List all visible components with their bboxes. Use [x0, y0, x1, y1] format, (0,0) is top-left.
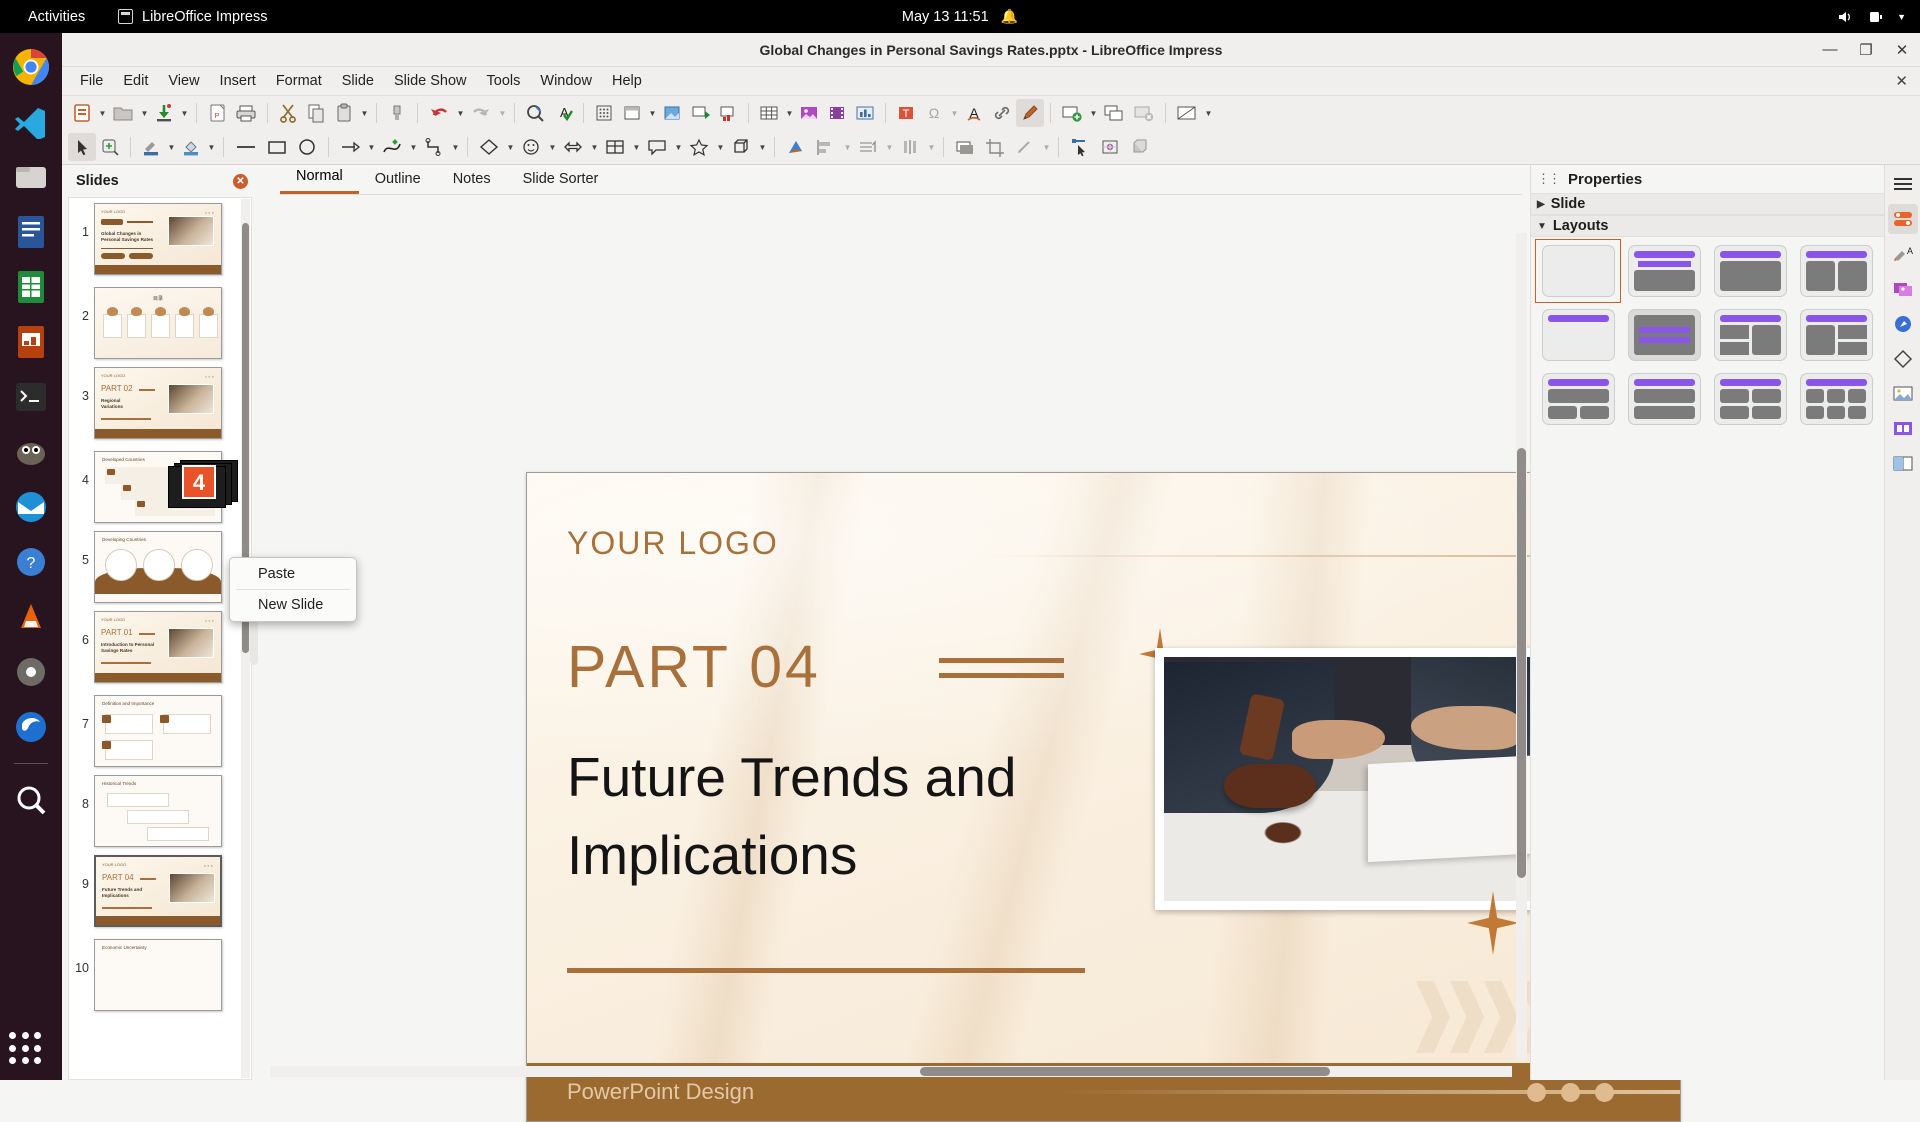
display-grid-button[interactable]	[590, 99, 618, 127]
footer-dot-2	[1561, 1083, 1580, 1102]
active-app-indicator[interactable]: LibreOffice Impress	[118, 9, 267, 25]
connectors-dropdown[interactable]: ▼	[450, 143, 461, 152]
slide-number: 2	[71, 287, 89, 323]
close-button[interactable]: ✕	[1892, 41, 1912, 59]
sidebar-header: ⋮⋮ Properties ✕	[1531, 165, 1920, 193]
start-from-first-slide-button[interactable]	[686, 99, 714, 127]
toolbar-separator	[130, 137, 131, 157]
glue-points-button[interactable]	[1095, 133, 1125, 161]
toolbar-separator	[514, 103, 515, 123]
dock-item-vlc[interactable]	[9, 595, 53, 639]
show-draw-functions-button[interactable]	[1016, 99, 1044, 127]
slide-thumbnail-7[interactable]: 7 Definition and Importance	[69, 690, 251, 770]
toolbar-separator	[196, 103, 197, 123]
spelling-button[interactable]: A	[549, 99, 577, 127]
slide-number: 6	[71, 611, 89, 647]
copy-button[interactable]	[302, 99, 330, 127]
editor-vertical-scrollbar[interactable]	[1516, 233, 1527, 1060]
insert-table-dropdown[interactable]: ▼	[784, 109, 795, 118]
stars-dropdown[interactable]: ▼	[715, 143, 726, 152]
dock-item-chrome[interactable]	[9, 45, 53, 89]
show-applications-button[interactable]	[9, 1032, 43, 1066]
rail-animation-icon[interactable]	[1888, 414, 1918, 444]
editor-horizontal-scrollbar[interactable]	[270, 1066, 1512, 1077]
dock-item-writer[interactable]	[9, 210, 53, 254]
menu-help[interactable]: Help	[602, 70, 652, 92]
chevron-down-icon: ▼	[1537, 221, 1547, 232]
toolbar-separator	[885, 103, 886, 123]
scrollbar-thumb[interactable]	[920, 1067, 1330, 1076]
headline-line-2: Implications	[567, 816, 1167, 894]
slide-thumbnail-2[interactable]: 2 目录	[69, 282, 251, 362]
menubar[interactable]: File Edit View Insert Format Slide Slide…	[62, 67, 1920, 96]
insert-image-button[interactable]	[795, 99, 823, 127]
arrange-button[interactable]	[853, 133, 883, 161]
insert-table-button[interactable]	[755, 99, 783, 127]
dock-item-terminal[interactable]	[9, 375, 53, 419]
layout-title-three-rows-b[interactable]	[1621, 367, 1707, 431]
flowchart-dropdown[interactable]: ▼	[631, 143, 642, 152]
save-document-button[interactable]	[150, 99, 178, 127]
dock-item-help[interactable]: ?	[9, 540, 53, 584]
filter-dropdown[interactable]: ▼	[1041, 143, 1052, 152]
dock-item-firefox[interactable]	[9, 705, 53, 749]
undo-button[interactable]	[424, 99, 454, 127]
menu-format[interactable]: Format	[266, 70, 332, 92]
clone-formatting-button[interactable]	[383, 99, 411, 127]
save-document-dropdown[interactable]: ▼	[179, 109, 190, 118]
dock-item-thunderbird[interactable]	[9, 485, 53, 529]
drawing-toolbar[interactable]: ▼ ▼ ▼ ▼ ▼ ▼ ▼ ▼ ▼	[62, 130, 1920, 165]
toolbar-separator	[1165, 103, 1166, 123]
dock-separator	[14, 763, 48, 764]
sidebar-section-layouts[interactable]: ▼ Layouts	[1531, 215, 1920, 237]
impress-icon	[118, 9, 133, 24]
3d-objects-dropdown[interactable]: ▼	[757, 143, 768, 152]
fill-color-dropdown[interactable]: ▼	[206, 143, 217, 152]
find-replace-button[interactable]	[521, 99, 549, 127]
dock-item-settings[interactable]	[9, 650, 53, 694]
layout-title-six-content[interactable]	[1793, 367, 1879, 431]
insert-fontwork-button[interactable]: A	[960, 99, 988, 127]
insert-text-box-button[interactable]: T	[892, 99, 920, 127]
display-views-button[interactable]	[618, 99, 646, 127]
slide-logo-text[interactable]: YOUR LOGO	[567, 525, 779, 562]
rail-gallery-icon[interactable]	[1888, 274, 1918, 304]
lines-and-arrows-button[interactable]	[335, 133, 365, 161]
print-button[interactable]	[231, 99, 261, 127]
points-button[interactable]	[1065, 133, 1095, 161]
redo-button[interactable]	[466, 99, 496, 127]
rail-navigator-icon[interactable]	[1888, 309, 1918, 339]
slide-part-label[interactable]: PART 04	[567, 633, 821, 701]
slide-number: 9	[71, 855, 89, 891]
svg-text:T: T	[903, 108, 910, 120]
show-apps-icon	[9, 1032, 43, 1066]
slide-thumbnail-5[interactable]: 5 Developing Countries	[69, 526, 251, 606]
slide-panel-scrollbar[interactable]	[241, 199, 250, 1078]
headline-underline	[567, 968, 1085, 973]
zoom-tool-button[interactable]	[96, 133, 124, 161]
footer-text: PowerPoint Design	[567, 1079, 754, 1105]
slide-panel: Slides ✕ 1 YOUR LOGO ●●● Global Changes …	[62, 165, 258, 1080]
menu-view[interactable]: View	[158, 70, 209, 92]
star-accent-bottom-right	[1467, 891, 1519, 955]
toggle-extrusion-button[interactable]	[1125, 133, 1155, 161]
toolbar-separator	[223, 137, 224, 157]
align-objects-button[interactable]	[811, 133, 841, 161]
export-pdf-button[interactable]: P	[203, 99, 231, 127]
svg-text:A: A	[1907, 246, 1913, 256]
drag-grip-icon[interactable]: ⋮⋮	[1537, 171, 1559, 187]
insert-line-button[interactable]	[230, 133, 262, 161]
bell-icon: 🔔	[1001, 8, 1018, 25]
connectors-button[interactable]	[419, 133, 449, 161]
thumbnail-image[interactable]: YOUR LOGO ●●● PART 02 RegionalVariations	[94, 367, 222, 439]
display-views-dropdown[interactable]: ▼	[647, 109, 658, 118]
context-menu-item-paste[interactable]: Paste	[230, 561, 356, 587]
photo-gavel-base	[1224, 764, 1316, 808]
new-document-dropdown[interactable]: ▼	[97, 109, 108, 118]
block-arrows-dropdown[interactable]: ▼	[589, 143, 600, 152]
menu-edit[interactable]: Edit	[113, 70, 158, 92]
slide-thumbnail-3[interactable]: 3 YOUR LOGO ●●● PART 02 RegionalVariatio…	[69, 362, 251, 446]
layout-title-content-and-two-content[interactable]	[1793, 303, 1879, 367]
sidebar-section-slide[interactable]: ▶ Slide ⚙	[1531, 193, 1920, 215]
rail-slide-transition-icon[interactable]	[1888, 449, 1918, 479]
editor-area: Normal Outline Notes Slide Sorter YOUR L…	[258, 165, 1530, 1080]
dock-item-vscode[interactable]	[9, 100, 53, 144]
thumbnail-image[interactable]: YOUR LOGO ●●● Global Changes inPersonal …	[94, 203, 222, 275]
section-label: Layouts	[1553, 218, 1609, 234]
sidebar-properties-deck: ⋮⋮ Properties ✕ ▶ Slide ⚙ ▼ Layouts	[1530, 165, 1920, 1080]
stars-button[interactable]	[684, 133, 714, 161]
gnome-top-bar: Activities LibreOffice Impress May 13 11…	[0, 0, 1920, 33]
symbol-shapes-button[interactable]	[516, 133, 546, 161]
slide-canvas[interactable]: YOUR LOGO PART 04 Future Trends and Impl…	[258, 197, 1530, 1080]
undo-dropdown[interactable]: ▼	[455, 109, 466, 118]
special-character-dropdown[interactable]: ▼	[949, 109, 960, 118]
slide-panel-title: Slides	[76, 173, 119, 189]
slide-properties-dropdown[interactable]: ▼	[1203, 109, 1214, 118]
callout-shapes-button[interactable]	[642, 133, 672, 161]
sidebar-title: Properties	[1568, 171, 1899, 188]
footer-dot-1	[1527, 1083, 1546, 1102]
toolbar-separator	[417, 103, 418, 123]
curves-and-polygons-button[interactable]	[377, 133, 407, 161]
thumbnail-image[interactable]: Definition and Importance	[94, 695, 222, 767]
block-arrows-button[interactable]	[558, 133, 588, 161]
basic-shapes-button[interactable]	[474, 133, 504, 161]
photo-hand-left	[1292, 720, 1386, 759]
tab-notes[interactable]: Notes	[437, 167, 507, 194]
rail-styles-icon[interactable]: A	[1888, 239, 1918, 269]
toolbar-separator	[328, 137, 329, 157]
slide-thumbnail-8[interactable]: 8 Historical Trends	[69, 770, 251, 850]
clock-label: May 13 11:51	[902, 9, 989, 25]
menu-insert[interactable]: Insert	[210, 70, 266, 92]
insert-special-character-button[interactable]: Ω	[920, 99, 948, 127]
slide-number: 3	[71, 367, 89, 403]
menu-window[interactable]: Window	[530, 70, 602, 92]
chevron-down-icon: ▼	[1897, 12, 1906, 22]
curves-and-polygons-dropdown[interactable]: ▼	[408, 143, 419, 152]
slide-editing-view[interactable]: YOUR LOGO PART 04 Future Trends and Impl…	[526, 472, 1681, 1122]
paste-button[interactable]	[330, 99, 358, 127]
tab-normal[interactable]: Normal	[280, 164, 359, 194]
svg-text:Ω: Ω	[929, 105, 939, 121]
fill-color-button[interactable]	[177, 133, 205, 161]
insert-hyperlink-button[interactable]	[988, 99, 1016, 127]
toolbar-separator	[774, 137, 775, 157]
part-dash-lower	[939, 673, 1064, 678]
layout-title-two-content[interactable]	[1793, 239, 1879, 303]
system-status-area[interactable]: ▼	[1838, 10, 1906, 24]
rail-master-slides-icon[interactable]	[1888, 379, 1918, 409]
power-icon	[1868, 10, 1884, 24]
slide-headline[interactable]: Future Trends and Implications	[567, 738, 1167, 894]
context-menu-item-new-slide[interactable]: New Slide	[230, 592, 356, 618]
volume-icon	[1838, 10, 1855, 24]
layout-title-three-rows[interactable]	[1535, 367, 1621, 431]
flowchart-button[interactable]	[600, 133, 630, 161]
layout-title-content[interactable]	[1621, 239, 1707, 303]
svg-text:?: ?	[27, 555, 36, 572]
toolbar-separator	[1058, 137, 1059, 157]
delete-slide-button[interactable]	[1129, 99, 1159, 127]
part-dash-upper	[939, 658, 1064, 663]
tab-slide-sorter[interactable]: Slide Sorter	[507, 167, 615, 194]
minimize-button[interactable]: —	[1820, 41, 1840, 58]
chevron-right-icon: ▶	[1537, 199, 1545, 210]
slide-number: 8	[71, 775, 89, 811]
open-document-dropdown[interactable]: ▼	[139, 109, 150, 118]
clock[interactable]: May 13 11:51 🔔	[902, 8, 1018, 25]
toolbar-separator	[376, 103, 377, 123]
work-area: Slides ✕ 1 YOUR LOGO ●●● Global Changes …	[62, 165, 1920, 1080]
dock-item-impress[interactable]	[9, 320, 53, 364]
slide-number: 1	[71, 203, 89, 239]
distribute-dropdown[interactable]: ▼	[926, 143, 937, 152]
insert-audio-video-button[interactable]	[823, 99, 851, 127]
toolbar-separator	[748, 103, 749, 123]
thumbnail-image[interactable]: YOUR LOGO ●●● PART 01 Introduction to Pe…	[94, 611, 222, 683]
line-color-button[interactable]	[137, 133, 165, 161]
menu-tools[interactable]: Tools	[477, 70, 531, 92]
master-slide-button[interactable]	[658, 99, 686, 127]
section-label: Slide	[1551, 196, 1586, 212]
distribute-button[interactable]	[895, 133, 925, 161]
align-objects-dropdown[interactable]: ▼	[842, 143, 853, 152]
rail-shapes-icon[interactable]	[1888, 344, 1918, 374]
sidebar-settings-icon[interactable]	[1888, 169, 1918, 199]
new-document-button[interactable]	[68, 99, 96, 127]
ellipse-button[interactable]	[292, 133, 322, 161]
footer-dot-3	[1595, 1083, 1614, 1102]
slide-number: 4	[71, 451, 89, 487]
filter-button[interactable]	[1010, 133, 1040, 161]
standard-toolbar[interactable]: ▼ ▼ ▼ P ▼ ▼ ▼	[62, 96, 1920, 130]
new-slide-button[interactable]	[1057, 99, 1087, 127]
drag-count-badge: 4	[182, 465, 216, 499]
layout-title-only-content[interactable]	[1707, 239, 1793, 303]
slide-thumbnail-6[interactable]: 6 YOUR LOGO ●●● PART 01 Introduction to …	[69, 606, 251, 690]
open-document-button[interactable]	[108, 99, 138, 127]
context-menu[interactable]: Paste New Slide	[229, 557, 357, 622]
layout-title-only[interactable]	[1535, 303, 1621, 367]
toolbar-separator	[467, 137, 468, 157]
dock-item-calc[interactable]	[9, 265, 53, 309]
toolbar-separator	[583, 103, 584, 123]
slide-number: 10	[71, 939, 89, 975]
toolbar-separator	[267, 103, 268, 123]
window-title: Global Changes in Personal Savings Rates…	[760, 42, 1223, 58]
layouts-grid[interactable]	[1531, 237, 1883, 433]
close-document-button[interactable]: ✕	[1895, 72, 1908, 90]
symbol-shapes-dropdown[interactable]: ▼	[547, 143, 558, 152]
line-color-dropdown[interactable]: ▼	[166, 143, 177, 152]
thumbnail-image[interactable]: 目录	[94, 287, 222, 359]
thumbnail-image[interactable]: Economic Uncertainty	[94, 939, 222, 1011]
menu-slide-show[interactable]: Slide Show	[384, 70, 477, 92]
callout-shapes-dropdown[interactable]: ▼	[673, 143, 684, 152]
layout-blank[interactable]	[1535, 239, 1621, 303]
rail-properties-icon[interactable]	[1888, 204, 1918, 234]
arrange-dropdown[interactable]: ▼	[884, 143, 895, 152]
thumbnail-image[interactable]: Developing Countries	[94, 531, 222, 603]
sidebar-tab-rail[interactable]: A	[1884, 165, 1920, 1080]
headline-line-1: Future Trends and	[567, 738, 1167, 816]
thumbnail-image[interactable]: Historical Trends	[94, 775, 222, 847]
ubuntu-dock: ?	[0, 33, 62, 1080]
slide-thumbnail-list[interactable]: 1 YOUR LOGO ●●● Global Changes inPersona…	[68, 197, 252, 1080]
start-from-current-slide-button[interactable]	[714, 99, 742, 127]
slide-number: 5	[71, 531, 89, 567]
footer-divider-line	[1057, 1090, 1681, 1094]
select-tool-button[interactable]	[68, 133, 96, 161]
dock-item-gimp[interactable]	[9, 430, 53, 474]
slide-number: 7	[71, 695, 89, 731]
slide-thumbnail-9[interactable]: 9 YOUR LOGO ●●● PART 04 Future Trends an…	[69, 850, 251, 934]
basic-shapes-dropdown[interactable]: ▼	[505, 143, 516, 152]
svg-text:P: P	[215, 113, 220, 120]
redo-dropdown[interactable]: ▼	[497, 109, 508, 118]
new-slide-dropdown[interactable]: ▼	[1088, 109, 1099, 118]
duplicate-slide-button[interactable]	[1099, 99, 1129, 127]
dock-item-search[interactable]	[9, 778, 53, 822]
context-menu-separator	[236, 589, 350, 590]
view-tabs[interactable]: Normal Outline Notes Slide Sorter	[280, 165, 1522, 195]
slide-properties-button[interactable]	[1172, 99, 1202, 127]
toolbar-separator	[1050, 103, 1051, 123]
layout-title-four-content[interactable]	[1707, 367, 1793, 431]
slide-thumbnail-1[interactable]: 1 YOUR LOGO ●●● Global Changes inPersona…	[69, 198, 251, 282]
lines-and-arrows-dropdown[interactable]: ▼	[366, 143, 377, 152]
impress-window: Global Changes in Personal Savings Rates…	[62, 33, 1920, 1080]
shadow-button[interactable]	[950, 133, 980, 161]
rotate-button[interactable]	[781, 133, 811, 161]
window-titlebar: Global Changes in Personal Savings Rates…	[62, 33, 1920, 67]
3d-objects-button[interactable]	[726, 133, 756, 161]
slide-panel-header: Slides ✕	[62, 165, 258, 195]
window-controls[interactable]: — ❐ ✕	[1820, 41, 1912, 59]
rectangle-button[interactable]	[262, 133, 292, 161]
insert-chart-button[interactable]	[851, 99, 879, 127]
thumbnail-image[interactable]: YOUR LOGO ●●● PART 04 Future Trends andI…	[94, 855, 222, 927]
slide-thumbnail-10[interactable]: 10 Economic Uncertainty	[69, 934, 251, 1014]
cut-button[interactable]	[274, 99, 302, 127]
crop-image-button[interactable]	[980, 133, 1010, 161]
paste-dropdown[interactable]: ▼	[359, 109, 370, 118]
menu-file[interactable]: File	[70, 70, 113, 92]
dock-item-files[interactable]	[9, 155, 53, 199]
layout-centered-text[interactable]	[1621, 303, 1707, 367]
activities-button[interactable]: Activities	[28, 9, 85, 25]
menu-slide[interactable]: Slide	[332, 70, 384, 92]
tab-outline[interactable]: Outline	[359, 167, 437, 194]
layout-title-two-content-and-content[interactable]	[1707, 303, 1793, 367]
toolbar-separator	[943, 137, 944, 157]
maximize-button[interactable]: ❐	[1856, 41, 1876, 59]
close-icon[interactable]: ✕	[233, 174, 248, 189]
scrollbar-thumb[interactable]	[1517, 448, 1526, 878]
active-app-label: LibreOffice Impress	[142, 9, 267, 25]
